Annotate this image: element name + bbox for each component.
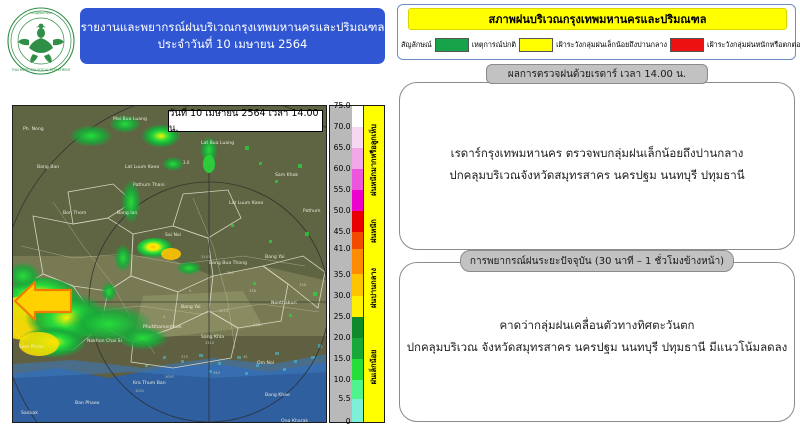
color-scale-tick: 45.0 [334, 228, 351, 236]
color-scale-segment [352, 338, 364, 359]
color-scale-category-label: ฝนปานกลาง [368, 268, 380, 308]
color-scale-category-label: ฝนเล็กน้อย [368, 349, 380, 384]
status-banner: สภาพฝนบริเวณกรุงเทพมหานครและปริมณฑล [408, 8, 787, 30]
svg-text:336: 336 [299, 283, 307, 287]
legend: สัญลักษณ์ เหตุการณ์ปกติ เฝ้าระวังกลุ่มฝน… [401, 35, 794, 55]
color-scale-segment [352, 148, 364, 169]
color-scale-tick: 55.0 [334, 186, 351, 194]
nowcast-line-2: ปกคลุมบริเวณ จังหวัดสมุทรสาคร นครปฐม นนท… [407, 339, 788, 356]
svg-text:Bon Thom: Bon Thom [63, 210, 87, 216]
color-scale-segment [352, 127, 364, 148]
legend-caption: สัญลักษณ์ [401, 40, 432, 51]
svg-text:340: 340 [213, 371, 221, 375]
color-scale-segment [352, 190, 364, 211]
color-scale-tick: 41.0 [334, 245, 351, 253]
color-scale-segment [352, 399, 364, 422]
color-scale-segment [352, 249, 364, 274]
svg-text:กรมอุตุนิยมวิทยา: กรมอุตุนิยมวิทยา [30, 11, 53, 16]
radar-map-canvas: Ph. Nong Mai Bua Luang Lat Bua Luang Wan… [13, 106, 326, 422]
color-scale-tick: 60.0 [334, 165, 351, 173]
legend-swatch-light-moderate [519, 38, 553, 52]
status-legend-container: สภาพฝนบริเวณกรุงเทพมหานครและปริมณฑล สัญล… [397, 4, 796, 60]
svg-text:338: 338 [249, 289, 257, 293]
svg-text:Bang Bua Thong: Bang Bua Thong [209, 260, 247, 266]
radar-color-scale: 75.070.065.060.055.050.045.041.035.030.0… [329, 105, 385, 423]
svg-text:3215: 3215 [219, 309, 228, 313]
radar-timestamp-label: วันที่ 10 เมษายน 2564 เวลา 14.00 น. [168, 110, 323, 132]
svg-text:3.0: 3.0 [183, 160, 190, 165]
svg-text:Bang Ban: Bang Ban [37, 164, 59, 170]
thai-meteorological-department-seal-icon: กรมอุตุนิยมวิทยา THAI METEOROLOGICAL DEP… [6, 6, 76, 76]
legend-swatch-heavy [670, 38, 704, 52]
svg-text:Lat Luum Kaeo: Lat Luum Kaeo [229, 200, 263, 206]
svg-text:Lat Bua Luang: Lat Bua Luang [201, 140, 234, 146]
svg-text:1001: 1001 [135, 389, 144, 393]
svg-text:Nonthaburi: Nonthaburi [271, 300, 297, 306]
svg-text:Sam Khok: Sam Khok [275, 172, 298, 178]
color-scale-segment [352, 169, 364, 190]
svg-text:Bang Ian: Bang Ian [117, 210, 137, 216]
observation-panel: เรดาร์กรุงเทพมหานคร ตรวจพบกลุ่มฝนเล็กน้อ… [399, 82, 795, 250]
legend-label-light-moderate: เฝ้าระวังกลุ่มฝนเล็กน้อยถึงปานกลาง [556, 40, 667, 51]
color-scale-tick: 15.0 [334, 355, 351, 363]
svg-text:Sang Khla: Sang Khla [201, 334, 224, 340]
svg-text:Pathum: Pathum [303, 208, 321, 214]
nowcast-panel: คาดว่ากลุ่มฝนเคลื่อนตัวทางทิศตะวันตก ปกค… [399, 262, 795, 422]
svg-text:35: 35 [243, 355, 248, 359]
nowcast-line-1: คาดว่ากลุ่มฝนเคลื่อนตัวทางทิศตะวันตก [499, 317, 694, 334]
svg-text:Kra Thum Ban: Kra Thum Ban [133, 380, 166, 386]
svg-text:Sam Phran: Sam Phran [19, 344, 44, 350]
page-title-banner: รายงานและพยากรณ์ฝนบริเวณกรุงเทพมหานครและ… [80, 8, 385, 64]
svg-text:Bang Yai: Bang Yai [181, 304, 201, 310]
color-scale-tick: 0 [346, 418, 351, 426]
page-title-line-2: ประจำวันที่ 10 เมษายน 2564 [158, 36, 308, 53]
color-scale-segment [352, 106, 364, 127]
report-page: กรมอุตุนิยมวิทยา THAI METEOROLOGICAL DEP… [0, 0, 800, 446]
color-scale-segment [352, 232, 364, 249]
color-scale-segment [352, 359, 364, 380]
legend-label-normal: เหตุการณ์ปกติ [472, 40, 516, 51]
svg-text:Lat Luum Kaeo: Lat Luum Kaeo [125, 164, 159, 170]
color-scale-tick: 35.0 [334, 271, 351, 279]
color-scale-segment [352, 211, 364, 232]
svg-text:Saduak: Saduak [21, 410, 38, 416]
color-scale-gradient [352, 106, 364, 422]
color-scale-tick: 25.0 [334, 313, 351, 321]
svg-text:Ban Phaeo: Ban Phaeo [75, 400, 100, 406]
color-scale-segment [352, 274, 364, 295]
color-scale-category-label: ฝนหนักมากหรือลูกเห็บ [368, 124, 380, 196]
svg-text:3310: 3310 [205, 341, 215, 345]
svg-text:THAI METEOROLOGICAL DEPARTMENT: THAI METEOROLOGICAL DEPARTMENT [11, 68, 71, 72]
svg-text:3101: 3101 [201, 255, 210, 259]
svg-text:Ph. Nong: Ph. Nong [23, 126, 44, 132]
svg-text:Ong Kharak: Ong Kharak [281, 418, 308, 423]
svg-text:Phutthamonthon: Phutthamonthon [143, 324, 182, 330]
color-scale-tick-values: 75.070.065.060.055.050.045.041.035.030.0… [330, 106, 352, 422]
color-scale-tick: 20.0 [334, 334, 351, 342]
color-scale-category-label: ฝนหนัก [368, 219, 380, 243]
nowcast-section-chip: การพยากรณ์ฝนระยะปัจจุบัน (30 นาที – 1 ชั… [460, 250, 734, 272]
color-scale-segment [352, 296, 364, 317]
radar-map[interactable]: Ph. Nong Mai Bua Luang Lat Bua Luang Wan… [12, 105, 327, 423]
nowcast-text: คาดว่ากลุ่มฝนเคลื่อนตัวทางทิศตะวันตก ปกค… [400, 317, 794, 357]
color-scale-tick: 30.0 [334, 292, 351, 300]
color-scale-category-labels: ฝนหนักมากหรือลูกเห็บฝนหนักฝนปานกลางฝนเล็… [363, 106, 384, 422]
svg-text:3097: 3097 [165, 375, 174, 379]
color-scale-tick: 65.0 [334, 144, 351, 152]
legend-swatch-normal [435, 38, 469, 52]
color-scale-tick: 75.0 [334, 102, 351, 110]
svg-text:Pathum Thani: Pathum Thani [133, 182, 165, 188]
legend-label-heavy: เฝ้าระวังกลุ่มฝนหนักหรือตกต่อเนื่อง [707, 40, 800, 51]
svg-text:Sai Noi: Sai Noi [165, 232, 181, 238]
svg-text:Om Noi: Om Noi [257, 360, 274, 366]
svg-text:375: 375 [181, 355, 188, 359]
color-scale-tick: 50.0 [334, 207, 351, 215]
svg-text:Mai Bua Luang: Mai Bua Luang [113, 116, 147, 122]
observation-text: เรดาร์กรุงเทพมหานคร ตรวจพบกลุ่มฝนเล็กน้อ… [400, 145, 794, 185]
observation-line-1: เรดาร์กรุงเทพมหานคร ตรวจพบกลุ่มฝนเล็กน้อ… [451, 145, 744, 162]
color-scale-segment [352, 317, 364, 338]
color-scale-tick: 70.0 [334, 123, 351, 131]
color-scale-tick: 5.5 [339, 395, 351, 403]
svg-text:Nakhon Chai Si: Nakhon Chai Si [87, 338, 122, 344]
svg-text:346: 346 [253, 323, 261, 327]
page-title-line-1: รายงานและพยากรณ์ฝนบริเวณกรุงเทพมหานครและ… [81, 19, 385, 36]
color-scale-segment [352, 380, 364, 399]
color-scale-tick: 10.0 [334, 376, 351, 384]
svg-text:Bang Khae: Bang Khae [265, 392, 290, 398]
svg-text:Bang Yai: Bang Yai [265, 254, 285, 260]
svg-text:345: 345 [227, 271, 234, 275]
observation-line-2: ปกคลุมบริเวณจังหวัดสมุทรสาคร นครปฐม นนทบ… [449, 167, 744, 184]
observation-section-chip: ผลการตรวจฝนด้วยเรดาร์ เวลา 14.00 น. [486, 64, 708, 84]
